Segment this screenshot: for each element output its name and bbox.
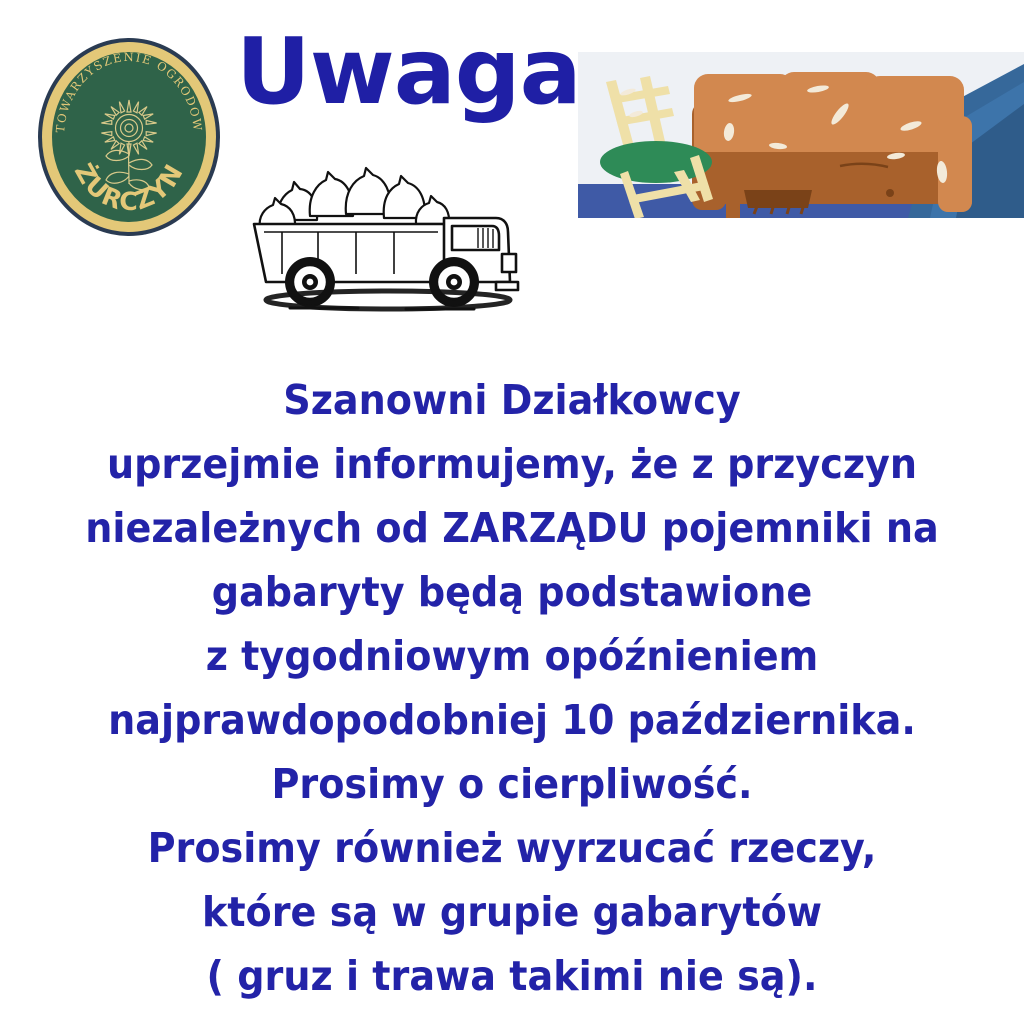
bulky-waste-illustration [578, 52, 1024, 218]
message-line: niezależnych od ZARZĄDU pojemniki na [36, 496, 988, 560]
message-line: gabaryty będą podstawione [36, 560, 988, 624]
poster-header: STOWARZYSZENIE OGRODOWE [0, 0, 1024, 320]
garbage-truck-icon [238, 132, 528, 312]
message-line: które są w grupie gabarytów [36, 880, 988, 944]
message-line: uprzejmie informujemy, że z przyczyn [36, 432, 988, 496]
association-logo: STOWARZYSZENIE OGRODOWE [36, 36, 222, 238]
poster-title: Uwaga [236, 26, 581, 118]
message-line: z tygodniowym opóźnieniem [36, 624, 988, 688]
message-line: Prosimy również wyrzucać rzeczy, [36, 816, 988, 880]
sofa-shape [692, 72, 972, 218]
announcement-text: Szanowni Działkowcy uprzejmie informujem… [0, 368, 1024, 1008]
message-line: ( gruz i trawa takimi nie są). [36, 944, 988, 1008]
logo-badge-icon: STOWARZYSZENIE OGRODOWE [36, 36, 222, 238]
message-line: Prosimy o cierpliwość. [36, 752, 988, 816]
poster-page: { "page": { "background_color": "#ffffff… [0, 0, 1024, 1024]
bulky-waste-photo [578, 52, 1024, 218]
message-line: Szanowni Działkowcy [36, 368, 988, 432]
message-line: najprawdopodobniej 10 października. [36, 688, 988, 752]
garbage-truck-illustration [238, 132, 528, 312]
